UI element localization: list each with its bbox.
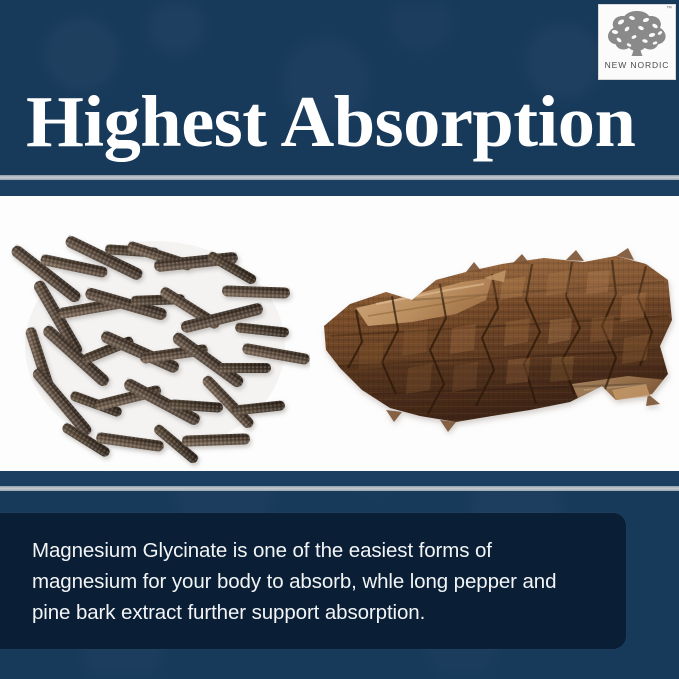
tree-icon bbox=[605, 9, 669, 59]
divider-silver-bottom bbox=[0, 486, 679, 491]
poster-header: ™ bbox=[0, 0, 679, 177]
description-text: Magnesium Glycinate is one of the easies… bbox=[32, 535, 592, 628]
trademark-symbol: ™ bbox=[666, 6, 672, 12]
ingredient-photo-panel bbox=[0, 196, 679, 471]
divider-band-top bbox=[0, 180, 679, 196]
description-card: Magnesium Glycinate is one of the easies… bbox=[0, 513, 626, 649]
page-title: Highest Absorption bbox=[26, 82, 675, 162]
divider-band-bottom bbox=[0, 471, 679, 486]
brand-logo: ™ bbox=[598, 4, 676, 80]
brand-name: NEW NORDIC bbox=[605, 60, 670, 70]
pine-bark-photo bbox=[310, 196, 679, 471]
product-marketing-poster: ™ bbox=[0, 0, 679, 679]
long-pepper-photo bbox=[0, 196, 310, 471]
